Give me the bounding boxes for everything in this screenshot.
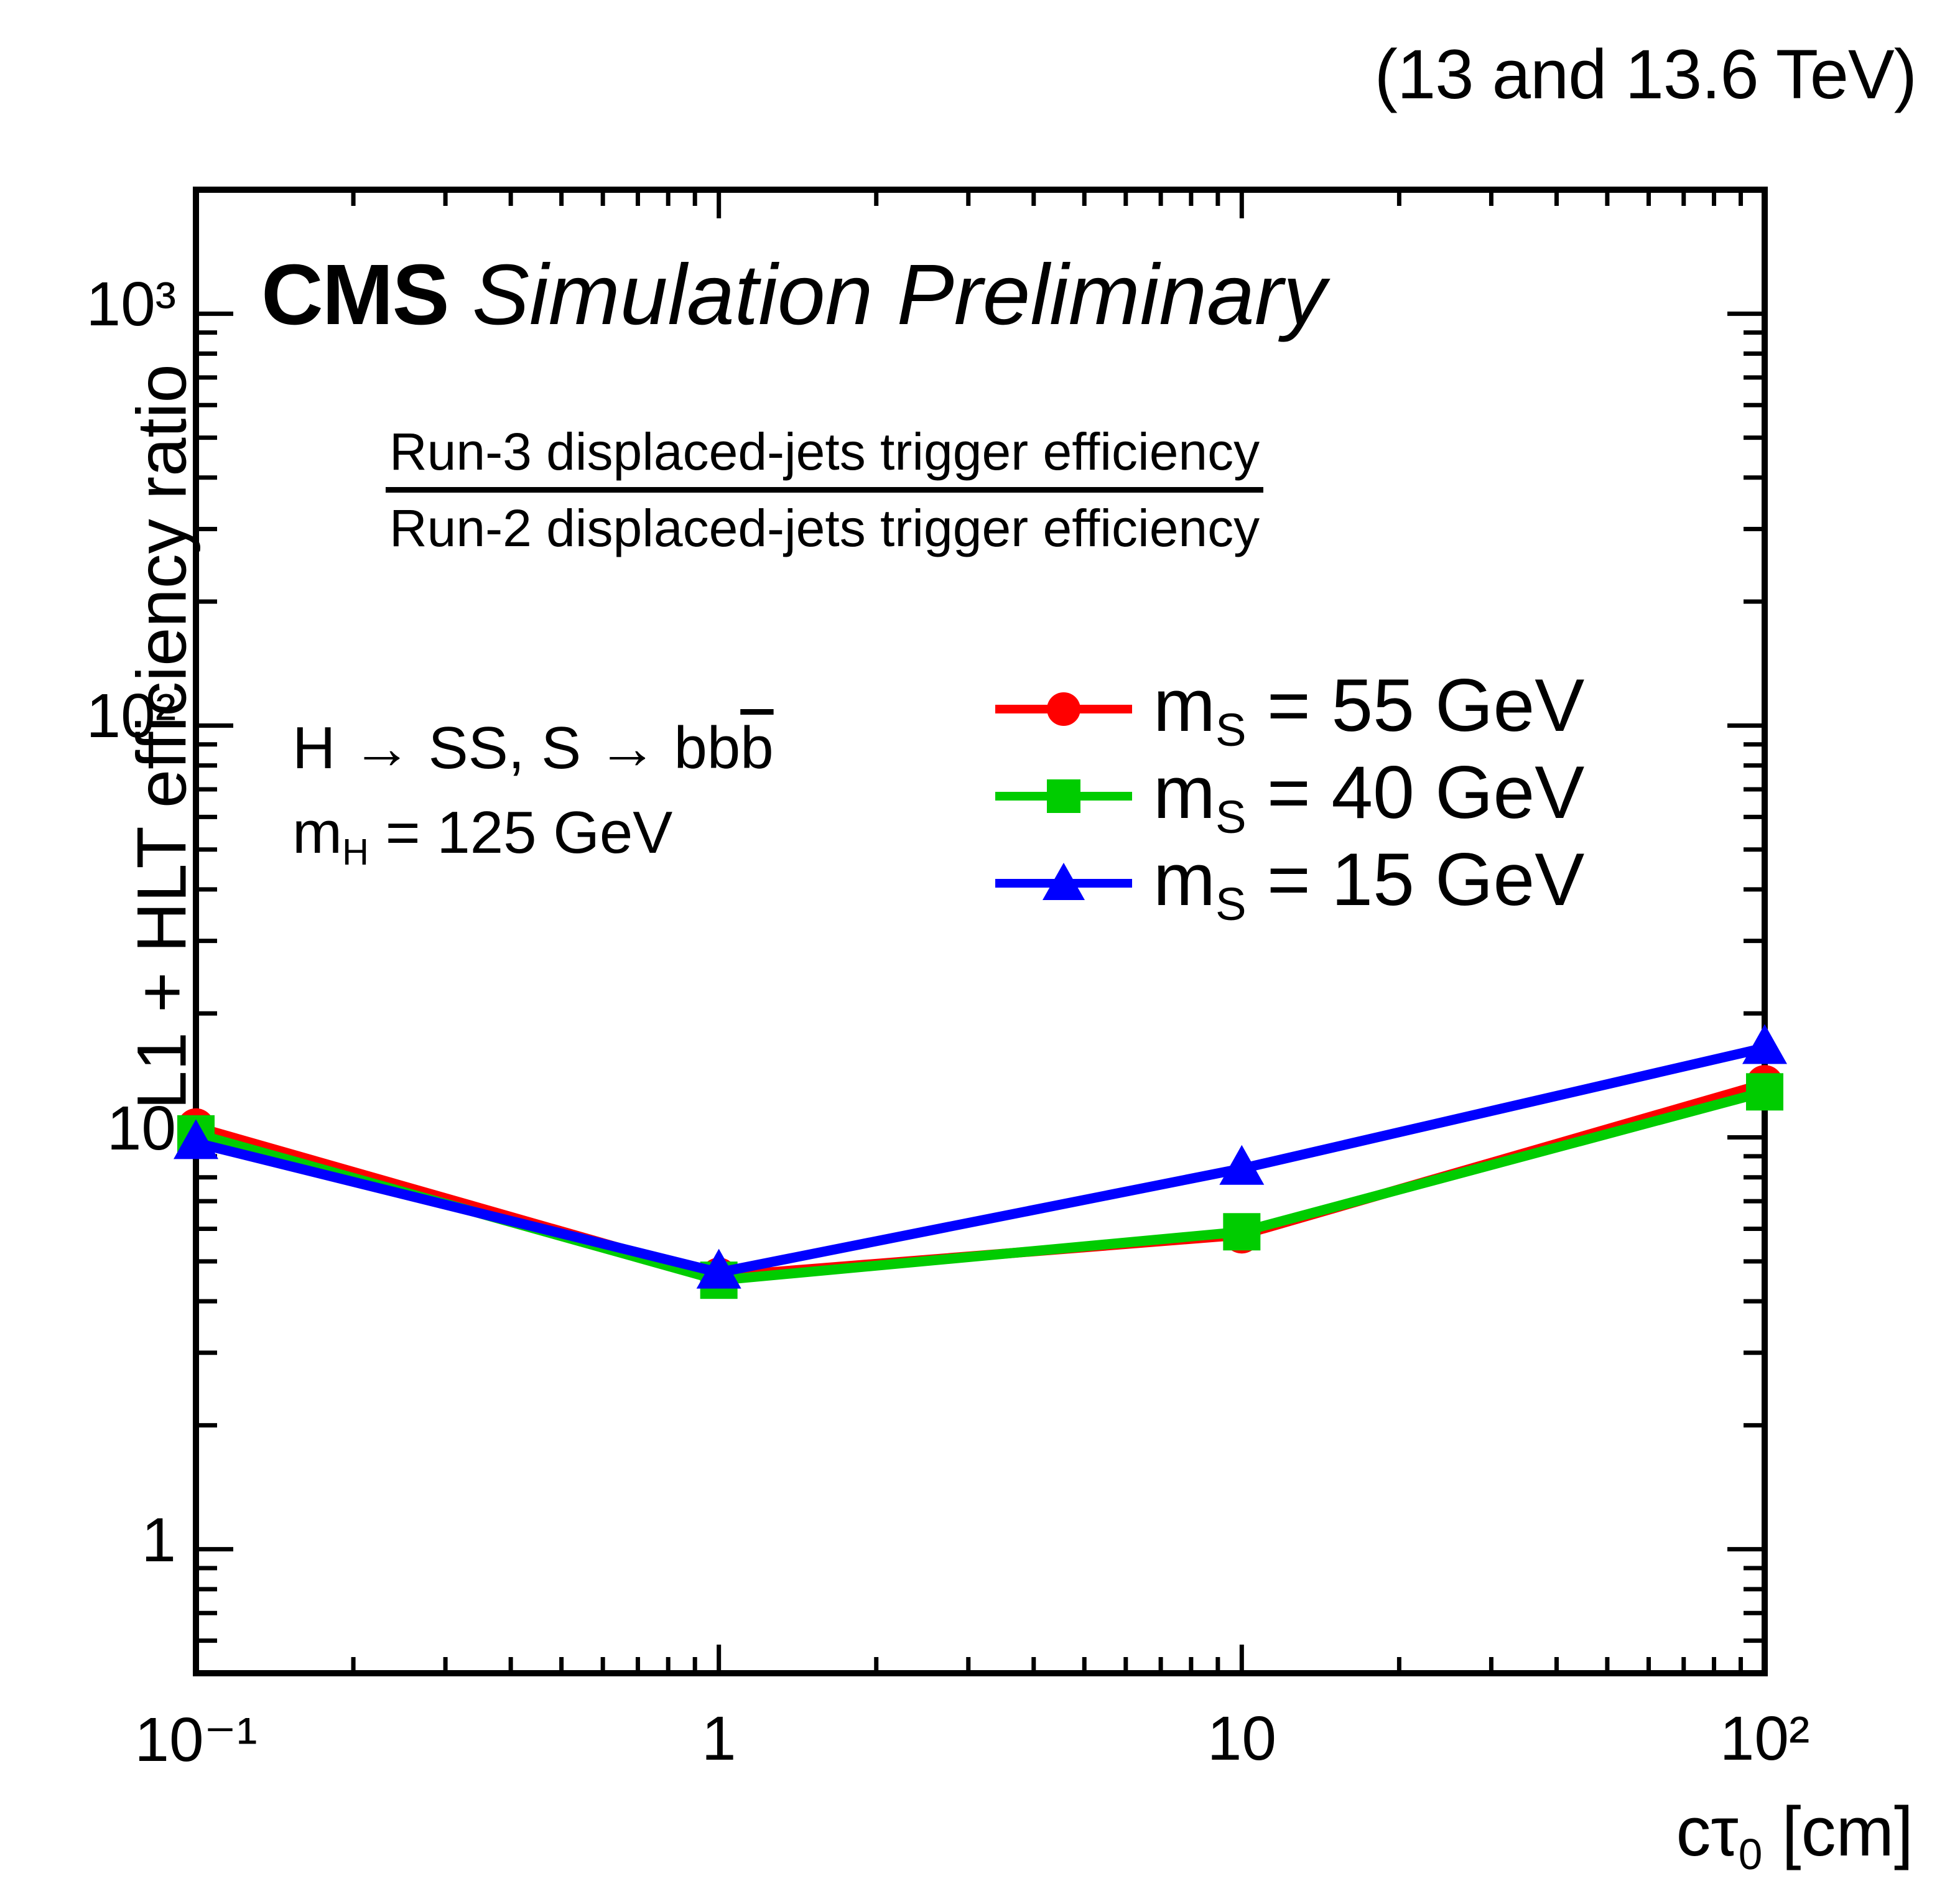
plot-canvas: (13 and 13.6 TeV) L1 + HLT efficiency ra…: [0, 0, 1960, 1904]
series-line-2: [196, 1048, 1765, 1273]
y-tick-label-2: 10: [107, 1093, 176, 1164]
series-line-1: [196, 1092, 1765, 1280]
series-line-0: [196, 1084, 1765, 1276]
plot-area: [0, 0, 1960, 1904]
y-tick-label-0: 10³: [86, 269, 176, 340]
data-point-marker-square: [1223, 1213, 1260, 1250]
x-tick-label-3: 10²: [1720, 1703, 1810, 1775]
x-tick-label-0: 10⁻¹: [134, 1703, 257, 1776]
y-tick-label-1: 10²: [86, 680, 176, 752]
x-tick-label-2: 10: [1207, 1703, 1276, 1775]
y-tick-label-3: 1: [141, 1505, 176, 1576]
data-point-marker-triangle: [1742, 1024, 1787, 1064]
plot-frame: [196, 190, 1765, 1673]
data-point-marker-square: [1746, 1073, 1783, 1110]
x-tick-label-1: 1: [702, 1703, 736, 1775]
